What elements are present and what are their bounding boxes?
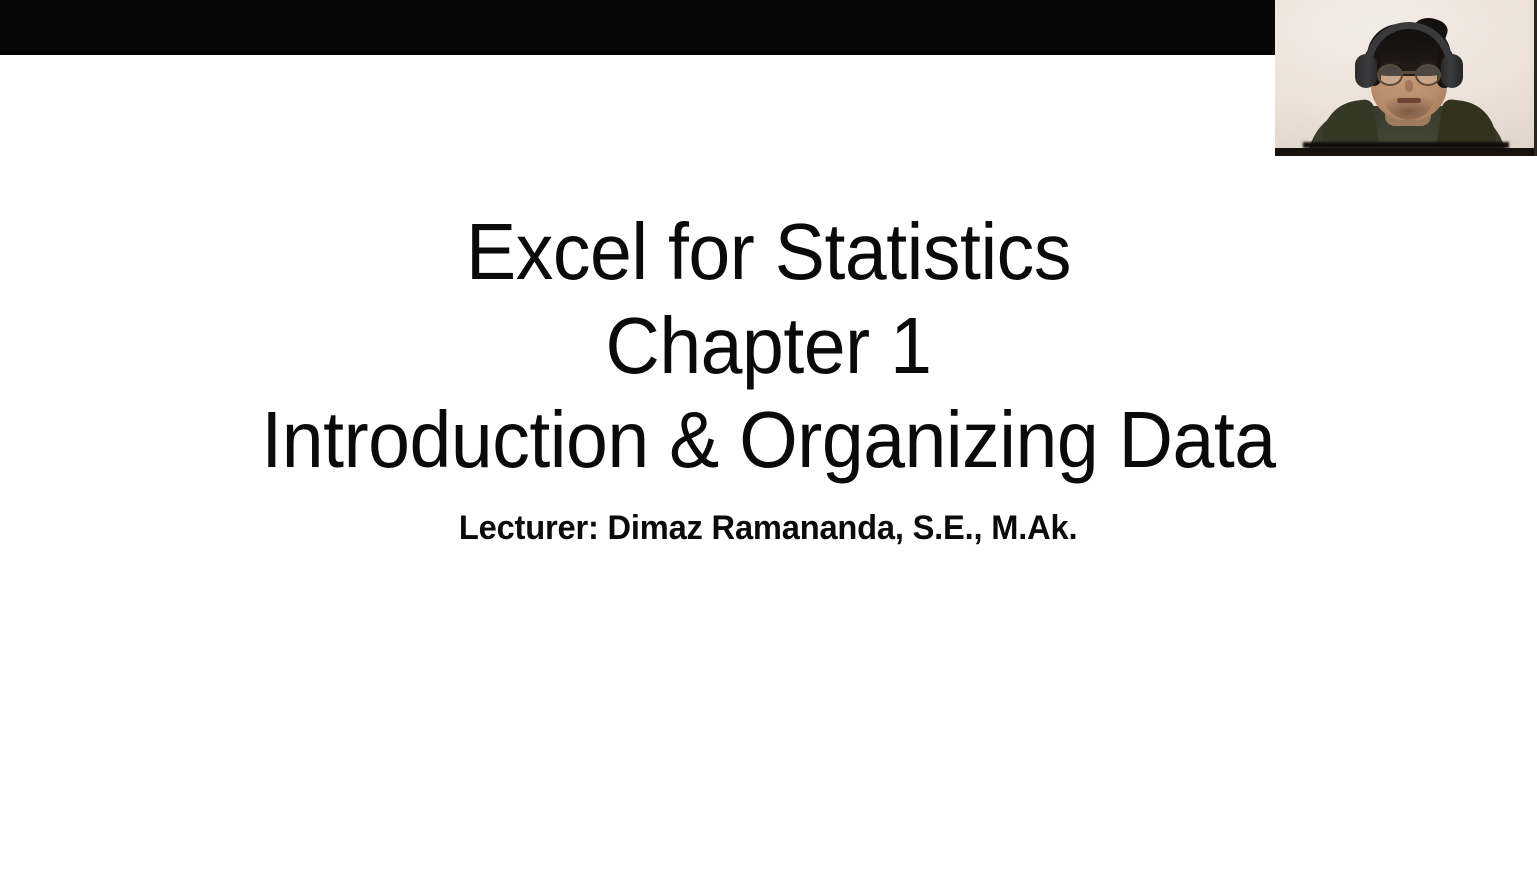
glasses-lens-right	[1415, 64, 1441, 86]
screen-share-recording: Excel for Statistics Chapter 1 Introduct…	[0, 0, 1537, 879]
slide-subtitle: Lecturer: Dimaz Ramananda, S.E., M.Ak.	[0, 506, 1537, 550]
glasses-bridge	[1402, 71, 1416, 74]
presenter-webcam-overlay[interactable]	[1275, 0, 1537, 156]
slide-title: Excel for Statistics Chapter 1 Introduct…	[0, 205, 1537, 487]
lecturer-name: Lecturer: Dimaz Ramananda, S.E., M.Ak.	[459, 506, 1077, 550]
presenter-nose	[1405, 80, 1413, 92]
webcam-video-feed	[1275, 0, 1537, 156]
slide-title-line-1: Excel for Statistics	[46, 205, 1491, 299]
presenter-mouth	[1397, 98, 1421, 103]
presenter-portrait	[1327, 14, 1487, 156]
webcam-bottom-bar	[1275, 148, 1537, 156]
slide-title-line-3: Introduction & Organizing Data	[46, 393, 1491, 487]
headphone-cup-left	[1355, 54, 1377, 88]
headphone-cup-right	[1441, 54, 1463, 88]
slide-title-line-2: Chapter 1	[46, 299, 1491, 393]
letterbox-bar	[0, 0, 1276, 55]
glasses-icon	[1377, 64, 1403, 86]
presentation-slide: Excel for Statistics Chapter 1 Introduct…	[0, 55, 1537, 879]
